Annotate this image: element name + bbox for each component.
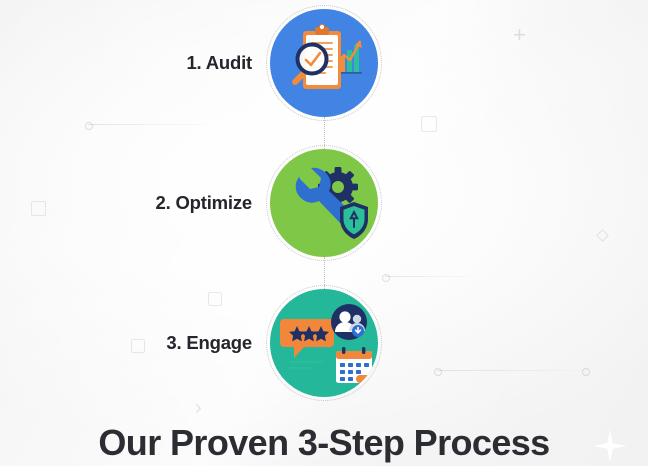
step-circle-wrap-engage xyxy=(270,289,378,397)
review-people-calendar-icon xyxy=(270,289,378,397)
slide-title: Our Proven 3-Step Process xyxy=(0,422,648,464)
speech-bubble-three-stars xyxy=(280,319,334,369)
step-audit[interactable]: 1. Audit xyxy=(270,9,378,117)
step-circle-wrap-optimize xyxy=(270,149,378,257)
people-group xyxy=(331,304,367,340)
step-optimize[interactable]: 2. Optimize xyxy=(270,149,378,257)
step-circle-audit xyxy=(270,9,378,117)
shield xyxy=(340,202,368,239)
bubble-lines xyxy=(289,361,323,369)
wrench-gear-shield-icon xyxy=(270,149,378,257)
slide-canvas: + › 1. Audit xyxy=(0,0,648,466)
step-label-audit: 1. Audit xyxy=(186,52,252,74)
process-steps: 1. Audit xyxy=(0,0,648,466)
step-label-engage: 3. Engage xyxy=(166,332,252,354)
step-circle-optimize xyxy=(270,149,378,257)
step-circle-engage xyxy=(270,289,378,397)
clipboard-magnifier-chart-icon xyxy=(270,9,378,117)
step-label-optimize: 2. Optimize xyxy=(156,192,253,214)
step-engage[interactable]: 3. Engage xyxy=(270,289,378,397)
step-circle-wrap-audit xyxy=(270,9,378,117)
